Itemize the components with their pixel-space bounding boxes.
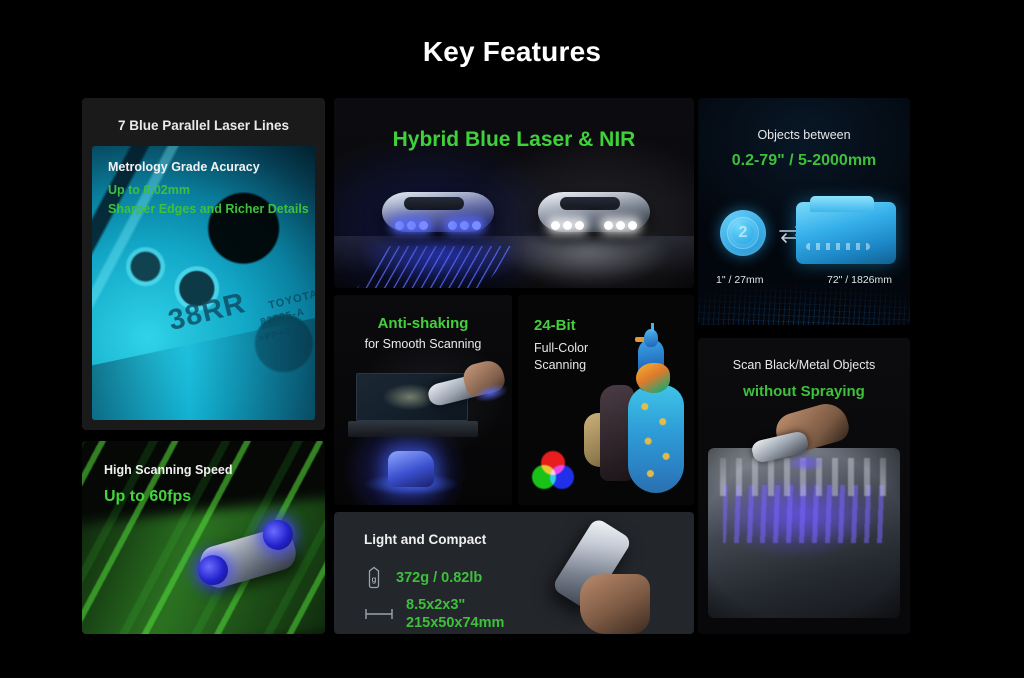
panel-scan-black-metal-objects[interactable]: Scan Black/Metal Objects without Sprayin… [698, 338, 910, 634]
panel-high-scanning-speed[interactable]: High Scanning Speed Up to 60fps [82, 441, 325, 634]
dimension-ruler-icon [364, 607, 394, 621]
metrology-accuracy-label: Metrology Grade Acuracy [108, 160, 309, 174]
hand [580, 574, 650, 634]
color-subtitle-line2: Scanning [534, 357, 588, 374]
device-lamp [628, 221, 637, 230]
scanning-speed-value: Up to 60fps [104, 488, 233, 506]
color-subtitle-line1: Full-Color [534, 340, 588, 357]
hero-title: Hybrid Blue Laser & NIR [334, 128, 694, 152]
etch-part-number: 38RR [165, 287, 249, 338]
scanning-speed-label: High Scanning Speed [104, 463, 233, 477]
hand-scanning-engine [752, 424, 830, 472]
accuracy-value: Up to 0.02mm [108, 183, 309, 197]
rgb-blue-circle [550, 465, 574, 489]
scanner-blue-glow [786, 454, 826, 472]
laser-panel-heading: 7 Blue Parallel Laser Lines [82, 118, 325, 133]
device-lamp [575, 221, 584, 230]
device-lamp [395, 221, 404, 230]
turntable-with-object [364, 447, 458, 495]
feature-grid: 7 Blue Parallel Laser Lines 38RR TOYOTA … [82, 98, 910, 634]
weight-tag-icon: g [364, 566, 384, 590]
equipment-case-3d-scan [796, 202, 896, 264]
svg-text:g: g [372, 575, 376, 584]
range-value: 0.2-79" / 5-2000mm [698, 152, 910, 170]
light-compact-title: Light and Compact [364, 532, 486, 547]
anti-shaking-title: Anti-shaking [334, 315, 512, 332]
peacock-3d-scan [574, 329, 690, 497]
dimension-inches: 8.5x2x3" [406, 596, 504, 614]
accuracy-detail: Sharper Edges and Richer Details [108, 202, 309, 216]
panel-anti-shaking[interactable]: Anti-shaking for Smooth Scanning [334, 295, 512, 505]
color-depth-subtitle: Full-Color Scanning [534, 340, 588, 374]
etch-brand: TOYOTA [267, 288, 315, 312]
dimension-values: 8.5x2x3" 215x50x74mm [406, 596, 504, 632]
device-lamp [616, 221, 625, 230]
device-visor [560, 197, 620, 210]
blue-laser-scanner-device [382, 192, 494, 232]
black-metal-line1: Scan Black/Metal Objects [698, 358, 910, 372]
dimension-mm: 215x50x74mm [406, 614, 504, 632]
panel-object-size-range[interactable]: Objects between 0.2-79" / 5-2000mm 2 1" … [698, 98, 910, 325]
range-label: Objects between [698, 128, 910, 142]
device-lamp [604, 221, 613, 230]
device-lamp [551, 221, 560, 230]
weight-spec-row: g 372g / 0.82lb [364, 566, 482, 590]
hand-holding-device-photo [546, 516, 676, 634]
peacock-tail [628, 385, 684, 493]
device-lamp [563, 221, 572, 230]
scanned-object [388, 451, 434, 487]
hero-white-glow [502, 238, 672, 286]
device-lamp [472, 221, 481, 230]
anti-shaking-subtitle: for Smooth Scanning [334, 337, 512, 351]
dimension-spec-row: 8.5x2x3" 215x50x74mm [364, 596, 504, 632]
peacock-crest [651, 323, 654, 332]
panel-24bit-full-color[interactable]: 24-Bit Full-Color Scanning [518, 295, 694, 505]
panel-hybrid-blue-laser-nir[interactable]: Hybrid Blue Laser & NIR [334, 98, 694, 288]
nir-scanner-device [538, 192, 650, 232]
color-depth-title: 24-Bit [534, 317, 576, 334]
key-features-page: Key Features 7 Blue Parallel Laser Lines… [0, 0, 1024, 678]
panel-blue-parallel-laser-lines[interactable]: 7 Blue Parallel Laser Lines 38RR TOYOTA … [82, 98, 325, 430]
coin-3d-scan: 2 [720, 210, 766, 256]
device-lamp [460, 221, 469, 230]
small-object-caption: 1" / 27mm [716, 274, 764, 286]
large-object-caption: 72" / 1826mm [827, 274, 892, 286]
rgb-color-wheel-icon [532, 451, 574, 489]
page-title: Key Features [0, 36, 1024, 68]
weight-value: 372g / 0.82lb [396, 569, 482, 587]
device-lamp [407, 221, 416, 230]
speed-overlay-text: High Scanning Speed Up to 60fps [104, 463, 233, 506]
device-visor [404, 197, 464, 210]
device-lamp [448, 221, 457, 230]
device-lamp [419, 221, 428, 230]
engine-block-photo [708, 448, 900, 618]
laptop-base [348, 421, 478, 437]
coin-denomination: 2 [720, 210, 766, 256]
peacock-wing [636, 363, 670, 393]
peacock-beak [635, 337, 644, 342]
black-metal-line2: without Spraying [698, 383, 910, 400]
panel-light-and-compact[interactable]: Light and Compact g 372g / 0.82lb [334, 512, 694, 634]
laser-overlay-text: Metrology Grade Acuracy Up to 0.02mm Sha… [108, 160, 309, 216]
laser-scan-photo: 38RR TOYOTA 82805-A >PP+GF< Metrology Gr… [92, 146, 315, 420]
